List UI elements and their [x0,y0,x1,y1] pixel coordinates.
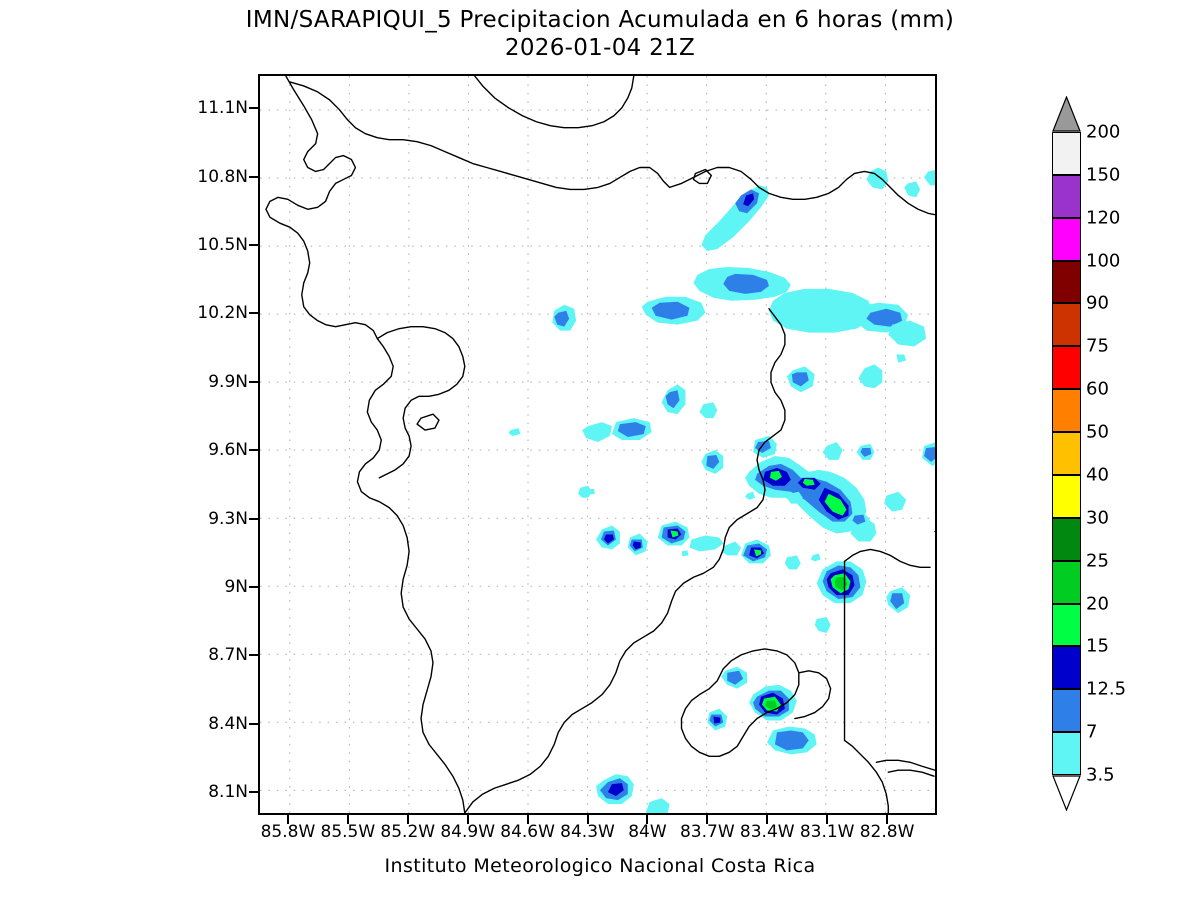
colorbar-band [1052,432,1081,475]
x-axis-tick-mark [527,815,529,824]
colorbar-band [1052,604,1081,647]
colorbar-band [1052,475,1081,518]
x-axis-tick-mark [706,815,708,824]
map-plot-area[interactable] [258,74,937,815]
y-axis-tick-label: 8.4N [208,714,248,734]
y-axis-tick-label: 9N [224,577,248,597]
x-axis-tick-label: 83.4W [740,822,795,842]
colorbar-band [1052,732,1081,775]
y-axis-tick-label: 9.3N [208,509,248,529]
colorbar-tick-label: 100 [1086,250,1120,271]
y-axis-tick-mark [249,244,259,246]
y-axis-tick-mark [249,518,259,520]
colorbar-band [1052,218,1081,261]
colorbar-tick-label: 60 [1086,379,1109,400]
x-axis-tick-mark [826,815,828,824]
y-axis-tick-label: 8.7N [208,645,248,665]
x-axis-tick-mark [766,815,768,824]
x-axis-tick-mark [646,815,648,824]
colorbar-tick-label: 20 [1086,593,1109,614]
x-axis-tick-label: 84.9W [440,822,495,842]
colorbar-tick-label: 12.5 [1086,679,1126,700]
colorbar-band [1052,175,1081,218]
y-axis-tick-mark [249,791,259,793]
y-axis-tick-mark [249,654,259,656]
x-axis-tick-label: 85.5W [321,822,376,842]
colorbar-tick-label: 200 [1086,122,1120,143]
y-axis-tick-mark [249,312,259,314]
colorbar-tick-label: 150 [1086,164,1120,185]
colorbar[interactable]: 20015012010090756050403025201512.573.5 [1052,96,1182,811]
y-axis-labels: 11.1N10.8N10.5N10.2N9.9N9.6N9.3N9N8.7N8.… [190,0,248,900]
precipitation-map [260,76,935,813]
colorbar-tick-label: 40 [1086,464,1109,485]
y-axis-tick-label: 9.9N [208,372,248,392]
y-axis-tick-label: 10.8N [197,167,248,187]
page-subtitle: 2026-01-04 21Z [0,34,1200,62]
y-axis-tick-mark [249,449,259,451]
x-axis-tick-mark [587,815,589,824]
x-axis-tick-mark [886,815,888,824]
y-axis-tick-label: 10.5N [197,235,248,255]
y-axis-tick-mark [249,586,259,588]
colorbar-tick-label: 7 [1086,722,1097,743]
colorbar-tick-label: 25 [1086,550,1109,571]
x-axis-tick-mark [467,815,469,824]
colorbar-tick-label: 30 [1086,507,1109,528]
colorbar-band [1052,261,1081,304]
page-title: IMN/SARAPIQUI_5 Precipitacion Acumulada … [0,6,1200,34]
x-axis-tick-mark [347,815,349,824]
y-axis-tick-label: 11.1N [197,98,248,118]
colorbar-band [1052,689,1081,732]
colorbar-tick-label: 120 [1086,207,1120,228]
colorbar-tick-label: 15 [1086,636,1109,657]
colorbar-band [1052,561,1081,604]
colorbar-band [1052,389,1081,432]
x-axis-tick-label: 83.7W [680,822,735,842]
y-axis-tick-label: 8.1N [208,782,248,802]
x-axis-labels: 85.8W85.5W85.2W84.9W84.6W84.3W84W83.7W83… [0,822,1200,852]
colorbar-over-arrow [1052,96,1081,132]
x-axis-tick-label: 84.6W [500,822,555,842]
footer-credit: Instituto Meteorologico Nacional Costa R… [0,855,1200,877]
colorbar-swatches [1052,96,1081,811]
colorbar-tick-label: 90 [1086,293,1109,314]
precipitation-contours [509,76,935,813]
x-axis-tick-label: 84.3W [560,822,615,842]
y-axis-tick-mark [249,723,259,725]
colorbar-band [1052,518,1081,561]
x-axis-tick-label: 85.2W [380,822,435,842]
x-axis-tick-label: 85.8W [261,822,316,842]
y-axis-tick-mark [249,176,259,178]
colorbar-band [1052,346,1081,389]
colorbar-tick-label: 50 [1086,422,1109,443]
chart-title-block: IMN/SARAPIQUI_5 Precipitacion Acumulada … [0,6,1200,62]
x-axis-tick-label: 82.8W [860,822,915,842]
colorbar-tick-label: 3.5 [1086,765,1115,786]
colorbar-band [1052,646,1081,689]
colorbar-band [1052,132,1081,175]
x-axis-tick-label: 84W [628,822,666,842]
colorbar-band [1052,303,1081,346]
x-axis-tick-mark [287,815,289,824]
y-axis-tick-mark [249,381,259,383]
x-axis-tick-mark [407,815,409,824]
y-axis-tick-label: 9.6N [208,440,248,460]
y-axis-tick-mark [249,107,259,109]
x-axis-tick-label: 83.1W [800,822,855,842]
colorbar-tick-label: 75 [1086,336,1109,357]
y-axis-tick-label: 10.2N [197,303,248,323]
colorbar-under-arrow [1052,775,1081,811]
